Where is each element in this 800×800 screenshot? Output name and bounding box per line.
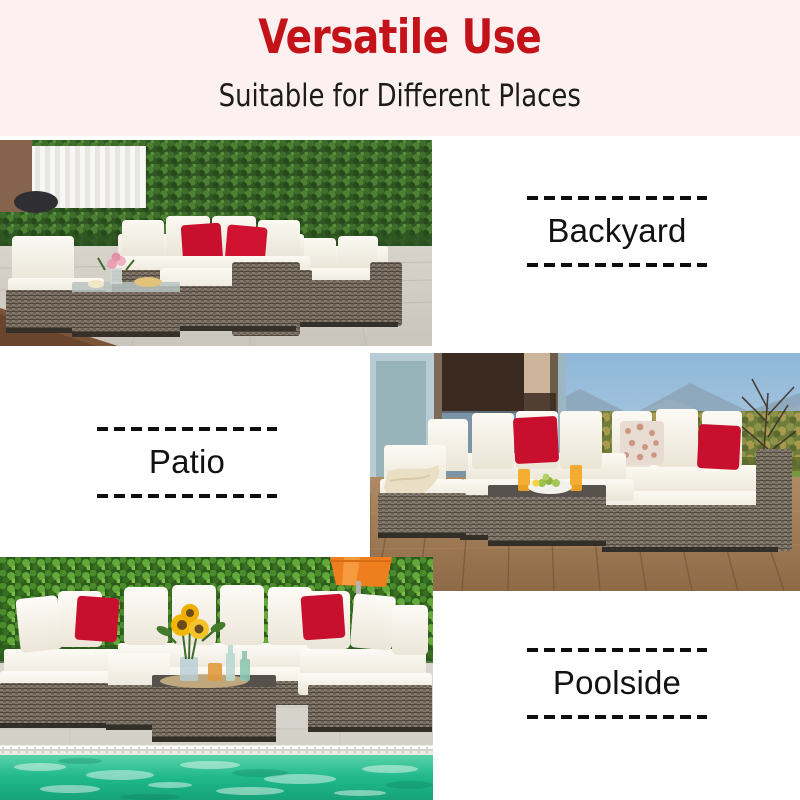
page-subtitle: Suitable for Different Places <box>219 81 581 112</box>
caption-label-backyard: Backyard <box>547 200 686 263</box>
caption-label-patio: Patio <box>149 431 225 494</box>
page-header: Versatile Use Suitable for Different Pla… <box>0 0 800 136</box>
page-root: Versatile Use Suitable for Different Pla… <box>0 0 800 800</box>
caption-patio: Patio <box>97 427 277 498</box>
caption-poolside: Poolside <box>527 648 707 719</box>
dashed-divider-bottom <box>527 263 707 267</box>
patio-scene-illustration <box>370 353 800 591</box>
page-title: Versatile Use <box>258 14 541 61</box>
photo-patio <box>370 353 800 591</box>
photo-backyard <box>0 140 432 346</box>
poolside-scene-illustration <box>0 557 433 800</box>
dashed-divider-bottom <box>527 715 707 719</box>
caption-backyard: Backyard <box>527 196 707 267</box>
dashed-divider-bottom <box>97 494 277 498</box>
caption-label-poolside: Poolside <box>553 652 681 715</box>
backyard-scene-illustration <box>0 140 432 346</box>
photo-poolside <box>0 557 433 800</box>
